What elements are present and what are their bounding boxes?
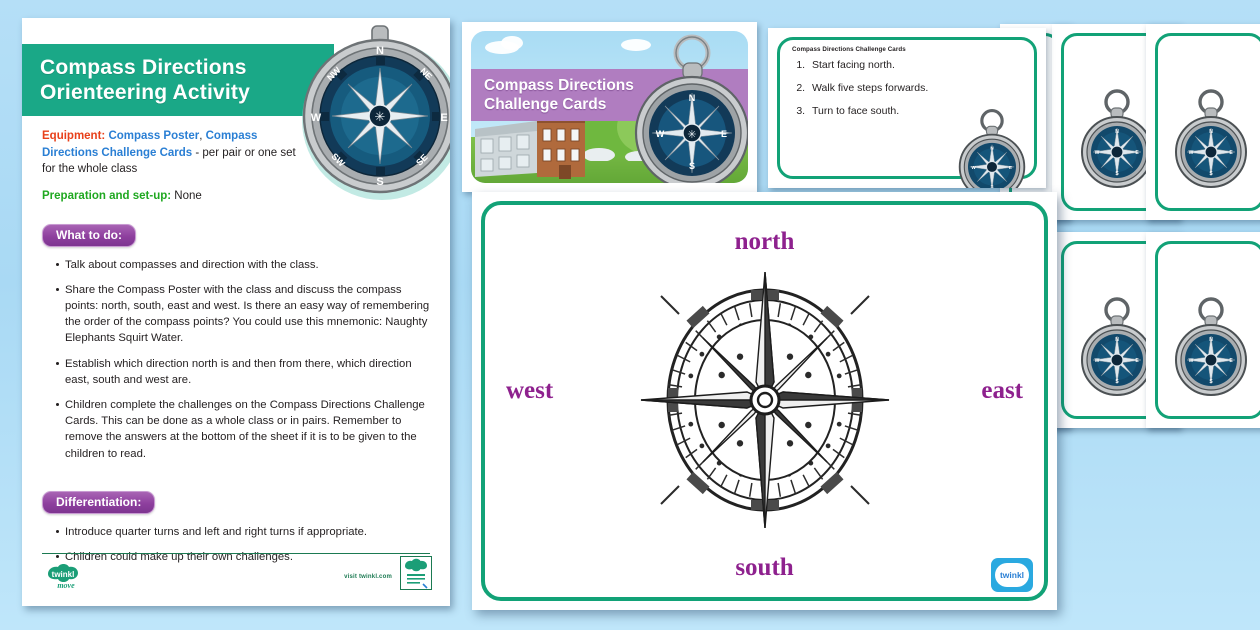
compass-label-e: E: [721, 129, 727, 139]
compass-illustration-small: NS WE: [952, 106, 1032, 188]
sheet-title-banner: Compass Directions Orienteering Activity: [22, 44, 334, 116]
direction-label-north: north: [472, 228, 1057, 256]
what-to-do-list: Talk about compasses and direction with …: [42, 257, 434, 462]
differentiation-list: Introduce quarter turns and left and rig…: [42, 524, 434, 565]
compass-illustration-title: ✳ N S W E: [632, 33, 748, 183]
challenge-card-list[interactable]: Compass Directions Challenge Cards Start…: [768, 28, 1046, 188]
activity-sheet-document[interactable]: Compass Directions Orienteering Activity: [22, 18, 450, 606]
link-compass-poster[interactable]: Compass Poster: [108, 130, 199, 142]
compass-label-w: W: [656, 129, 665, 139]
stacked-challenge-card[interactable]: NS WE: [1146, 24, 1260, 220]
title-line-1: Compass Directions: [484, 77, 634, 94]
direction-label-south: south: [472, 554, 1057, 582]
challenge-cards-title-card[interactable]: Compass Directions Challenge Cards: [462, 22, 757, 192]
cloud-icon: [501, 36, 523, 50]
compass-illustration-small: NS WE: [1168, 86, 1254, 190]
school-building-illustration: [475, 111, 587, 181]
title-card-scene: Compass Directions Challenge Cards: [471, 31, 748, 183]
compass-label-e: E: [440, 112, 447, 124]
preparation-line: Preparation and set-up: None: [42, 188, 434, 204]
equipment-label: Equipment:: [42, 130, 105, 142]
list-item: Children could make up their own challen…: [56, 549, 434, 565]
screenshot-canvas: Compass Directions Orienteering Activity: [0, 0, 1260, 630]
svg-text:✳: ✳: [375, 110, 386, 125]
stacked-challenge-card[interactable]: NS WE: [1146, 232, 1260, 428]
svg-text:N: N: [1115, 129, 1119, 135]
svg-text:W: W: [1095, 150, 1100, 156]
twinkl-badge-text: twinkl: [991, 570, 1033, 580]
page-title: Compass Directions Orienteering Activity: [22, 55, 334, 105]
svg-text:W: W: [971, 165, 976, 170]
list-item: Walk five steps forwards.: [808, 81, 928, 95]
challenge-steps-list: Start facing north. Walk five steps forw…: [790, 58, 928, 127]
differentiation-heading: Differentiation:: [42, 491, 155, 514]
list-item: Establish which direction north is and t…: [56, 356, 434, 388]
footer-divider: [42, 553, 430, 555]
compass-directions-poster[interactable]: north south west east: [472, 192, 1057, 610]
svg-text:W: W: [1189, 150, 1194, 156]
compass-illustration-small: NS WE: [1168, 294, 1254, 398]
list-item: Share the Compass Poster with the class …: [56, 282, 434, 347]
compass-label-w: W: [311, 112, 322, 124]
quality-badge-icon: [400, 556, 432, 590]
equipment-line: Equipment: Compass Poster, Compass Direc…: [42, 128, 310, 178]
svg-text:N: N: [1209, 337, 1213, 343]
visit-url[interactable]: visit twinkl.com: [344, 574, 392, 580]
twinkl-move-logo: twinkl move: [42, 560, 102, 592]
card-header-label: Compass Directions Challenge Cards: [792, 46, 906, 53]
compass-rose-illustration: [630, 255, 900, 545]
svg-text:S: S: [990, 184, 993, 188]
svg-text:N: N: [1209, 129, 1213, 135]
list-item: Introduce quarter turns and left and rig…: [56, 524, 434, 540]
list-item: Start facing north.: [808, 58, 928, 72]
list-item: Children complete the challenges on the …: [56, 397, 434, 462]
svg-text:twinkl: twinkl: [52, 570, 75, 579]
list-item: Turn to face south.: [808, 104, 928, 118]
preparation-label: Preparation and set-up:: [42, 190, 171, 202]
svg-text:✳: ✳: [687, 128, 696, 141]
sheet-body: Equipment: Compass Poster, Compass Direc…: [42, 128, 434, 574]
twinkl-badge[interactable]: twinkl: [991, 558, 1033, 592]
what-to-do-heading: What to do:: [42, 224, 136, 247]
svg-text:W: W: [1095, 358, 1100, 364]
title-line-2: Challenge Cards: [484, 96, 606, 113]
svg-text:W: W: [1189, 358, 1194, 364]
title-card-title: Compass Directions Challenge Cards: [471, 76, 634, 114]
compass-label-n: N: [689, 93, 696, 103]
compass-label-s: S: [689, 161, 695, 171]
svg-text:E: E: [1009, 165, 1012, 170]
svg-text:move: move: [57, 581, 75, 590]
compass-label-n: N: [376, 45, 384, 57]
preparation-value: None: [171, 190, 202, 202]
list-item: Talk about compasses and direction with …: [56, 257, 434, 273]
direction-label-east: east: [981, 377, 1023, 405]
svg-text:N: N: [1115, 337, 1119, 343]
direction-label-west: west: [506, 377, 553, 405]
